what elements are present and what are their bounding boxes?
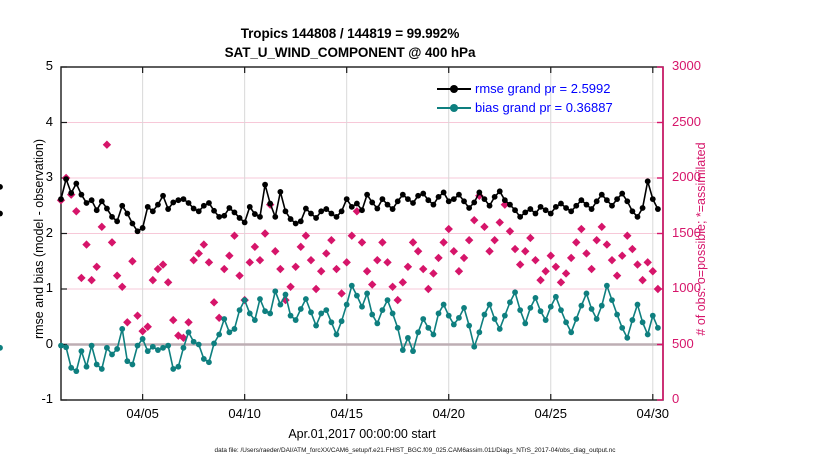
rmse-marker	[451, 196, 457, 202]
obs-count-marker	[399, 278, 407, 286]
obs-count-marker	[327, 236, 335, 244]
rmse-marker	[288, 216, 294, 222]
rmse-marker	[548, 211, 554, 217]
bias-marker	[84, 364, 90, 370]
obs-count-marker	[133, 311, 141, 319]
obs-count-marker	[445, 225, 453, 233]
rmse-marker	[328, 211, 334, 217]
legend-marker-rmse	[437, 82, 471, 96]
bias-marker	[150, 344, 156, 350]
obs-count-marker	[312, 285, 320, 293]
obs-count-marker	[77, 274, 85, 282]
obs-count-marker	[506, 227, 514, 235]
obs-count-marker	[256, 256, 264, 264]
rmse-marker	[119, 203, 125, 209]
y-tick-label-left: 3	[13, 169, 53, 184]
obs-count-marker	[480, 223, 488, 231]
rmse-marker	[247, 204, 253, 210]
obs-count-marker	[608, 256, 616, 264]
bias-marker	[94, 362, 100, 368]
data-file-note: data file: /Users/raeder/DAI/ATM_forcXX/…	[0, 447, 830, 454]
bias-marker	[114, 346, 120, 352]
bias-marker	[63, 344, 69, 350]
bias-marker	[624, 335, 630, 341]
rmse-marker	[323, 206, 329, 212]
bias-marker	[466, 323, 472, 329]
rmse-marker	[283, 208, 289, 214]
bias-marker	[543, 317, 549, 323]
obs-count-marker	[455, 267, 463, 275]
obs-count-marker	[189, 256, 197, 264]
bias-marker	[650, 313, 656, 319]
x-tick-label: 04/25	[521, 406, 581, 421]
obs-count-marker	[618, 252, 626, 260]
rmse-marker	[487, 203, 493, 209]
obs-count-marker	[169, 316, 177, 324]
rmse-marker	[181, 196, 187, 202]
bias-marker	[619, 325, 625, 331]
obs-count-marker	[587, 265, 595, 273]
obs-count-marker	[649, 267, 657, 275]
bias-marker	[431, 332, 437, 338]
bias-marker	[318, 311, 324, 317]
bias-marker	[272, 288, 278, 294]
obs-count-marker	[205, 258, 213, 266]
rmse-marker	[150, 208, 156, 214]
obs-count-marker	[582, 249, 590, 257]
bias-marker	[334, 332, 340, 338]
obs-count-marker	[409, 238, 417, 246]
rmse-marker	[456, 192, 462, 198]
rmse-marker	[267, 201, 273, 207]
rmse-marker	[624, 198, 630, 204]
x-tick-label: 04/15	[317, 406, 377, 421]
rmse-marker	[252, 211, 258, 217]
obs-count-marker	[113, 271, 121, 279]
rmse-marker	[135, 228, 141, 234]
bias-marker	[124, 358, 130, 364]
rmse-marker	[186, 200, 192, 206]
obs-count-marker	[541, 267, 549, 275]
obs-count-marker	[603, 240, 611, 248]
rmse-marker	[0, 184, 3, 190]
obs-count-marker	[82, 240, 90, 248]
obs-count-marker	[210, 298, 218, 306]
bias-marker	[538, 308, 544, 314]
bias-marker	[359, 304, 365, 310]
obs-count-marker	[317, 267, 325, 275]
rmse-marker	[573, 203, 579, 209]
obs-count-marker	[388, 283, 396, 291]
obs-count-marker	[394, 296, 402, 304]
bias-marker	[191, 339, 197, 345]
rmse-marker	[380, 196, 386, 202]
obs-count-marker	[429, 269, 437, 277]
bias-marker	[79, 348, 85, 354]
chart-legend: rmse grand pr = 2.5992 bias grand pr = 0…	[437, 79, 652, 119]
obs-count-marker	[516, 260, 524, 268]
bias-marker	[262, 308, 268, 314]
obs-count-marker	[439, 238, 447, 246]
bias-marker	[313, 323, 319, 329]
rmse-marker	[497, 188, 503, 194]
obs-count-marker	[98, 223, 106, 231]
rmse-marker	[527, 206, 533, 212]
rmse-marker	[313, 215, 319, 221]
rmse-marker	[0, 211, 3, 217]
bias-marker	[145, 348, 151, 354]
bias-marker	[614, 312, 620, 318]
bias-marker	[553, 294, 559, 300]
bias-marker	[604, 283, 610, 289]
bias-marker	[303, 296, 309, 302]
bias-marker	[405, 335, 411, 341]
x-tick-label: 04/10	[215, 406, 275, 421]
chart-figure: Tropics 144808 / 144819 = 99.992% SAT_U_…	[0, 0, 830, 470]
rmse-marker	[553, 204, 559, 210]
bias-marker	[99, 366, 105, 372]
y-tick-label-right: 2500	[672, 114, 718, 129]
rmse-marker	[344, 196, 350, 202]
obs-count-marker	[623, 232, 631, 240]
bias-marker	[380, 307, 386, 313]
rmse-marker	[58, 196, 64, 202]
obs-count-marker	[93, 263, 101, 271]
rmse-marker	[216, 214, 222, 220]
bias-marker	[344, 302, 350, 308]
obs-count-marker	[128, 257, 136, 265]
obs-count-marker	[149, 276, 157, 284]
rmse-marker	[130, 221, 136, 227]
legend-label-rmse: rmse grand pr = 2.5992	[475, 81, 611, 96]
rmse-marker	[594, 198, 600, 204]
bias-marker	[232, 326, 238, 332]
bias-marker	[364, 291, 370, 297]
rmse-marker	[405, 196, 411, 202]
bias-marker	[573, 316, 579, 322]
bias-marker	[425, 325, 431, 331]
rmse-marker	[364, 192, 370, 198]
bias-marker	[206, 359, 212, 365]
obs-count-marker	[220, 265, 228, 273]
obs-count-marker	[307, 256, 315, 264]
bias-marker	[328, 319, 334, 325]
rmse-marker	[170, 200, 176, 206]
bias-marker	[629, 317, 635, 323]
obs-count-marker	[246, 258, 254, 266]
bias-marker	[609, 297, 615, 303]
rmse-marker	[466, 205, 472, 211]
bias-marker	[497, 326, 503, 332]
rmse-marker	[533, 211, 539, 217]
rmse-marker	[614, 196, 620, 202]
obs-count-marker	[348, 232, 356, 240]
bias-marker	[267, 311, 273, 317]
bias-marker	[242, 297, 248, 303]
rmse-marker	[635, 214, 641, 220]
bias-marker	[446, 313, 452, 319]
rmse-marker	[512, 207, 518, 213]
bias-marker	[349, 283, 355, 289]
rmse-marker	[619, 191, 625, 197]
bias-marker	[277, 302, 283, 308]
bias-marker	[548, 304, 554, 310]
rmse-marker	[99, 198, 105, 204]
rmse-marker	[318, 208, 324, 214]
rmse-marker	[165, 206, 171, 212]
y-tick-label-left: 5	[13, 58, 53, 73]
rmse-marker	[242, 220, 248, 226]
bias-marker	[196, 342, 202, 348]
y-tick-label-right: 0	[672, 391, 718, 406]
rmse-marker	[395, 198, 401, 204]
bias-marker	[130, 362, 136, 368]
bias-line	[61, 286, 658, 371]
bias-marker	[517, 307, 523, 313]
obs-count-marker	[613, 271, 621, 279]
bias-marker	[237, 307, 243, 313]
obs-count-marker	[577, 225, 585, 233]
obs-count-marker	[251, 243, 259, 251]
bias-marker	[339, 318, 345, 324]
obs-count-marker	[526, 234, 534, 242]
obs-count-marker	[511, 245, 519, 253]
bias-marker	[568, 329, 574, 335]
rmse-marker	[140, 225, 146, 231]
obs-count-marker	[521, 247, 529, 255]
rmse-marker	[73, 181, 79, 187]
obs-count-marker	[123, 318, 131, 326]
rmse-marker	[104, 206, 110, 212]
obs-count-marker	[633, 260, 641, 268]
obs-count-marker	[531, 256, 539, 264]
bias-marker	[385, 297, 391, 303]
y-tick-label-right: 3000	[672, 58, 718, 73]
bias-marker	[563, 319, 569, 325]
obs-count-marker	[557, 278, 565, 286]
rmse-marker	[640, 205, 646, 211]
rmse-marker	[124, 211, 130, 217]
rmse-marker	[339, 208, 345, 214]
bias-marker	[170, 366, 176, 372]
bias-marker	[89, 343, 95, 349]
obs-count-marker	[358, 238, 366, 246]
y-tick-label-left: 1	[13, 280, 53, 295]
obs-count-marker	[547, 252, 555, 260]
rmse-marker	[232, 210, 238, 216]
rmse-marker	[84, 200, 90, 206]
bias-marker	[589, 306, 595, 312]
bias-marker	[522, 321, 528, 327]
obs-count-marker	[337, 289, 345, 297]
rmse-marker	[476, 190, 482, 196]
bias-marker	[655, 325, 661, 331]
rmse-marker	[385, 202, 391, 208]
obs-count-marker	[552, 263, 560, 271]
bias-marker	[533, 295, 539, 301]
bias-marker	[471, 344, 477, 350]
rmse-marker	[79, 192, 85, 198]
rmse-marker	[645, 178, 651, 184]
obs-count-marker	[465, 236, 473, 244]
rmse-marker	[436, 194, 442, 200]
obs-count-marker	[368, 280, 376, 288]
rmse-marker	[502, 197, 508, 203]
y-tick-label-right: 500	[672, 336, 718, 351]
bias-marker	[441, 302, 447, 308]
obs-count-marker	[470, 216, 478, 224]
bias-marker	[135, 343, 141, 349]
rmse-marker	[293, 221, 299, 227]
bias-marker	[584, 291, 590, 297]
bias-marker	[461, 305, 467, 311]
rmse-marker	[441, 190, 447, 196]
bias-marker	[451, 322, 457, 328]
bias-marker	[390, 311, 396, 317]
obs-count-marker	[485, 247, 493, 255]
rmse-marker	[369, 200, 375, 206]
obs-count-marker	[297, 243, 305, 251]
rmse-marker	[507, 202, 513, 208]
rmse-marker	[334, 214, 340, 220]
bias-marker	[298, 306, 304, 312]
obs-count-marker	[332, 265, 340, 273]
rmse-marker	[277, 189, 283, 195]
obs-count-marker	[536, 276, 544, 284]
bias-marker	[502, 313, 508, 319]
rmse-marker	[446, 198, 452, 204]
y-tick-label-right: 1500	[672, 225, 718, 240]
rmse-marker	[63, 176, 69, 182]
obs-count-marker	[373, 256, 381, 264]
obs-count-marker	[286, 283, 294, 291]
bias-marker	[175, 364, 181, 370]
obs-count-marker	[322, 249, 330, 257]
x-tick-label: 04/30	[623, 406, 683, 421]
bias-marker	[140, 336, 146, 342]
rmse-marker	[262, 182, 268, 188]
y-tick-label-left: 2	[13, 225, 53, 240]
obs-count-marker	[195, 249, 203, 257]
bias-marker	[211, 340, 217, 346]
bias-marker	[257, 296, 263, 302]
bias-marker	[456, 315, 462, 321]
rmse-marker	[257, 214, 263, 220]
bias-marker	[323, 307, 329, 313]
rmse-marker	[94, 207, 100, 213]
rmse-marker	[272, 214, 278, 220]
bias-marker	[283, 292, 289, 298]
rmse-line	[61, 179, 658, 231]
bias-marker	[410, 348, 416, 354]
bias-marker	[369, 312, 375, 318]
rmse-marker	[390, 206, 396, 212]
obs-count-marker	[414, 247, 422, 255]
rmse-marker	[211, 208, 217, 214]
bias-marker	[492, 316, 498, 322]
rmse-marker	[629, 208, 635, 214]
bias-marker	[221, 316, 227, 322]
rmse-marker	[578, 197, 584, 203]
rmse-marker	[650, 196, 656, 202]
bias-marker	[109, 352, 115, 358]
obs-count-marker	[291, 263, 299, 271]
rmse-marker	[420, 191, 426, 197]
legend-item-rmse: rmse grand pr = 2.5992	[437, 79, 652, 98]
rmse-marker	[609, 203, 615, 209]
rmse-marker	[308, 211, 314, 217]
rmse-marker	[543, 207, 549, 213]
obs-count-marker	[572, 238, 580, 246]
rmse-marker	[354, 201, 360, 207]
obs-count-marker	[72, 207, 80, 215]
obs-count-marker	[230, 232, 238, 240]
bias-marker	[104, 345, 110, 351]
obs-count-marker	[404, 263, 412, 271]
bias-marker	[415, 329, 421, 335]
obs-count-marker	[108, 238, 116, 246]
bias-marker	[354, 293, 360, 299]
bias-marker	[68, 365, 74, 371]
obs-count-marker	[103, 141, 111, 149]
bias-marker	[293, 317, 299, 323]
rmse-marker	[89, 197, 95, 203]
rmse-marker	[589, 206, 595, 212]
obs-count-marker	[434, 254, 442, 262]
rmse-marker	[160, 193, 166, 199]
obs-count-marker	[363, 267, 371, 275]
obs-count-marker	[450, 247, 458, 255]
bias-marker	[201, 356, 207, 362]
obs-count-marker	[638, 276, 646, 284]
bias-marker	[436, 311, 442, 317]
y-tick-label-left: -1	[13, 391, 53, 406]
obs-count-marker	[592, 236, 600, 244]
y-tick-label-left: 0	[13, 336, 53, 351]
bias-marker	[226, 329, 232, 335]
rmse-marker	[237, 215, 243, 221]
obs-count-marker	[598, 223, 606, 231]
y-tick-label-left: 4	[13, 114, 53, 129]
rmse-marker	[191, 206, 197, 212]
obs-count-marker	[654, 285, 662, 293]
y-tick-label-right: 1000	[672, 280, 718, 295]
rmse-marker	[196, 208, 202, 214]
bias-marker	[216, 332, 222, 338]
obs-count-marker	[276, 265, 284, 273]
rmse-marker	[206, 200, 212, 206]
obs-count-marker	[628, 245, 636, 253]
bias-marker	[395, 325, 401, 331]
bias-marker	[640, 319, 646, 325]
rmse-marker	[298, 218, 304, 224]
legend-label-bias: bias grand pr = 0.36887	[475, 100, 613, 115]
rmse-marker	[461, 198, 467, 204]
bias-marker	[181, 345, 187, 351]
rmse-marker	[303, 206, 309, 212]
rmse-marker	[415, 193, 421, 199]
bias-marker	[308, 309, 314, 315]
rmse-marker	[145, 204, 151, 210]
bias-marker	[73, 368, 79, 374]
obs-count-marker	[460, 254, 468, 262]
rmse-marker	[604, 197, 610, 203]
rmse-marker	[482, 196, 488, 202]
rmse-marker	[221, 213, 227, 219]
rmse-marker	[599, 192, 605, 198]
bias-marker	[599, 303, 605, 309]
bias-marker	[476, 329, 482, 335]
